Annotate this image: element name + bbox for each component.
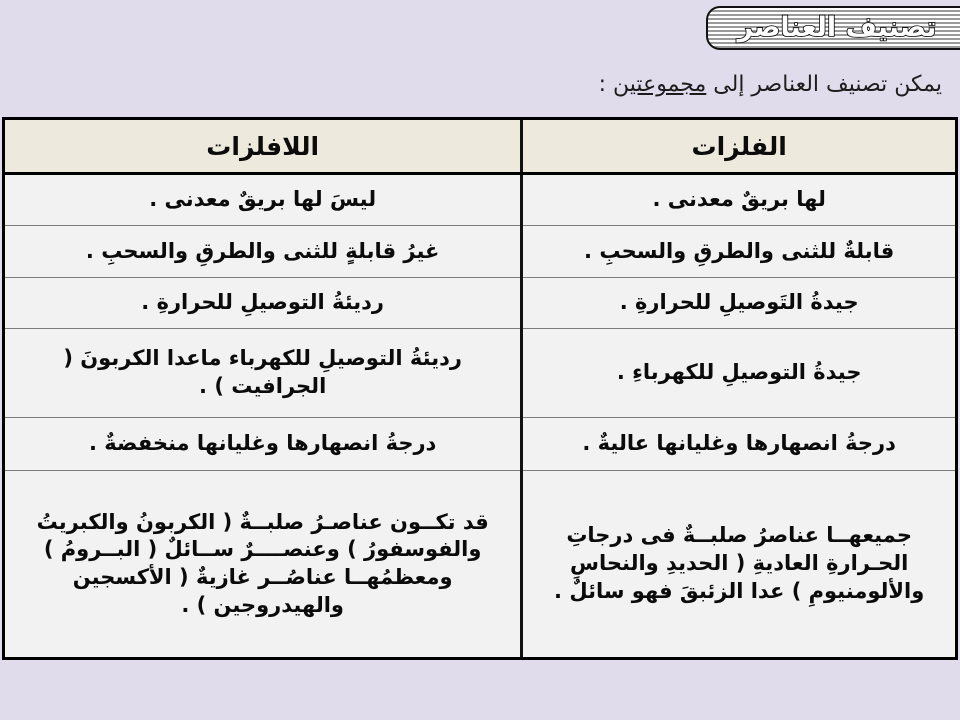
- table-row: لها بريقٌ معدنى . ليسَ لها بريقٌ معدنى .: [5, 174, 955, 226]
- table-row: قابلةٌ للثنى والطرقِ والسحبِ . غيرُ قابل…: [5, 226, 955, 278]
- cell-nonmetals-malleability: غيرُ قابلةٍ للثنى والطرقِ والسحبِ .: [5, 226, 522, 278]
- cell-nonmetals-luster: ليسَ لها بريقٌ معدنى .: [5, 174, 522, 226]
- table-row: جيدةُ التوصيلِ للكهرباءِ . رديئةُ التوصي…: [5, 329, 955, 418]
- cell-nonmetals-melting-point: درجةُ انصهارها وغليانها منخفضةٌ .: [5, 418, 522, 471]
- cell-nonmetals-electric-conduction: رديئةُ التوصيلِ للكهرباء ماعدا الكربونَ …: [5, 329, 522, 418]
- cell-metals-melting-point: درجةُ انصهارها وغليانها عاليةٌ .: [522, 418, 955, 471]
- classification-table-container: الفلزات اللافلزات لها بريقٌ معدنى . ليسَ…: [2, 117, 958, 660]
- subtitle: يمكن تصنيف العناصر إلى مجموعتين :: [0, 72, 942, 97]
- table-body: لها بريقٌ معدنى . ليسَ لها بريقٌ معدنى .…: [5, 174, 955, 658]
- slide-title: تصنيف العناصر: [737, 14, 936, 41]
- table-row: درجةُ انصهارها وغليانها عاليةٌ . درجةُ ا…: [5, 418, 955, 471]
- cell-metals-electric-conduction: جيدةُ التوصيلِ للكهرباءِ .: [522, 329, 955, 418]
- cell-metals-heat-conduction: جيدةُ التَوصيلِ للحرارةِ .: [522, 278, 955, 329]
- table-row: جيدةُ التَوصيلِ للحرارةِ . رديئةُ التوصي…: [5, 278, 955, 329]
- title-banner: تصنيف العناصر: [706, 6, 960, 50]
- column-header-metals: الفلزات: [522, 120, 955, 174]
- column-header-nonmetals: اللافلزات: [5, 120, 522, 174]
- table-header: الفلزات اللافلزات: [5, 120, 955, 174]
- cell-metals-state: جميعهــا عناصرُ صلبــةٌ فى درجاتِ الحـرا…: [522, 471, 955, 658]
- subtitle-emphasis: مجموعتين: [613, 72, 706, 97]
- table-row: جميعهــا عناصرُ صلبــةٌ فى درجاتِ الحـرا…: [5, 471, 955, 658]
- cell-nonmetals-heat-conduction: رديئةُ التوصيلِ للحرارةِ .: [5, 278, 522, 329]
- subtitle-lead: يمكن تصنيف العناصر إلى: [706, 72, 942, 97]
- classification-table: الفلزات اللافلزات لها بريقٌ معدنى . ليسَ…: [5, 120, 955, 657]
- table-header-row: الفلزات اللافلزات: [5, 120, 955, 174]
- cell-nonmetals-state: قد تكــون عناصـرُ صلبــةٌ ( الكربونُ وال…: [5, 471, 522, 658]
- subtitle-trail: :: [599, 72, 613, 97]
- cell-metals-luster: لها بريقٌ معدنى .: [522, 174, 955, 226]
- cell-metals-malleability: قابلةٌ للثنى والطرقِ والسحبِ .: [522, 226, 955, 278]
